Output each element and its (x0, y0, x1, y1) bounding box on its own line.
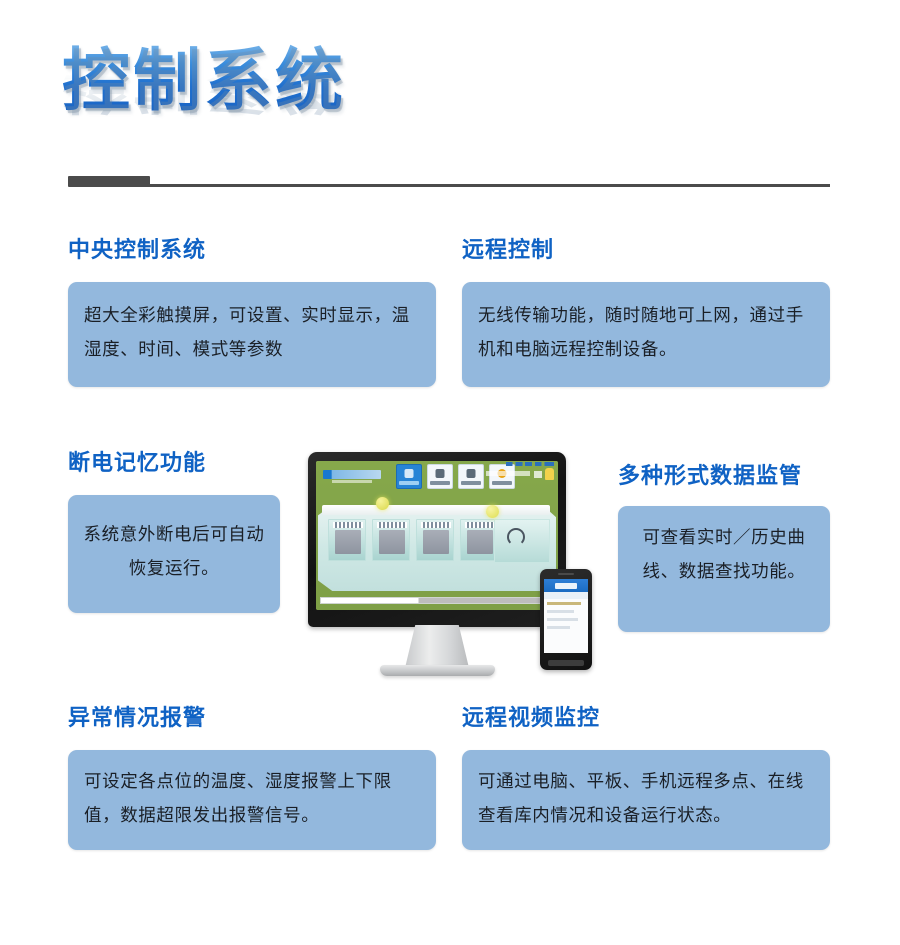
floorplan-wall (322, 505, 550, 515)
equipment-unit (423, 530, 449, 554)
floorplan-room[interactable] (372, 519, 410, 561)
phone-app-tabs[interactable] (544, 592, 588, 599)
list-item (547, 618, 578, 621)
vent-icon (377, 522, 407, 528)
feature-central-control-system: 中央控制系统 超大全彩触摸屏，可设置、实时显示，温湿度、时间、模式等参数 (68, 232, 436, 387)
phone-speaker (558, 573, 574, 575)
monitor-screen (316, 461, 558, 610)
feature-body-panel: 超大全彩触摸屏，可设置、实时显示，温湿度、时间、模式等参数 (68, 282, 436, 387)
feature-remote-video-monitoring: 远程视频监控 可通过电脑、平板、手机远程多点、在线查看库内情况和设备运行状态。 (462, 700, 830, 850)
divider (68, 176, 830, 188)
divider-line (148, 184, 830, 187)
feature-heading: 中央控制系统 (68, 232, 436, 264)
company-logo-icon (323, 470, 381, 479)
fan-icon (507, 528, 525, 546)
page-title-block: 控制系统 控制系统 (62, 44, 482, 164)
floorplan-room[interactable] (416, 519, 454, 561)
hmi-tile-label (430, 481, 450, 485)
feature-body-panel: 可通过电脑、平板、手机远程多点、在线查看库内情况和设备运行状态。 (462, 750, 830, 850)
floorplan-room[interactable] (460, 519, 498, 561)
phone-screen (544, 579, 588, 653)
chart-icon (436, 469, 445, 478)
equipment-unit (335, 530, 361, 554)
hmi-tile-3[interactable] (458, 464, 484, 489)
page-title: 控制系统 (62, 44, 482, 118)
feature-multi-form-data-supervision: 多种形式数据监管 可查看实时／历史曲线、数据查找功能。 (618, 458, 830, 632)
feature-body-panel: 系统意外断电后可自动恢复运行。 (68, 495, 280, 613)
list-item (547, 602, 581, 605)
indicator-lamp-icon (486, 505, 499, 518)
monitor-stand-base (380, 665, 495, 676)
hmi-nav-tiles (396, 464, 515, 489)
feature-heading: 远程视频监控 (462, 700, 830, 732)
smartphone-icon (540, 569, 592, 670)
hmi-tile-1[interactable] (396, 464, 422, 489)
hmi-tile-label (399, 481, 419, 485)
feature-body-panel: 无线传输功能，随时随地可上网，通过手机和电脑远程控制设备。 (462, 282, 830, 387)
hmi-progress-bar[interactable] (320, 597, 554, 604)
phone-home-button[interactable] (548, 660, 584, 666)
hmi-tile-label (461, 481, 481, 485)
equipment-unit (379, 530, 405, 554)
feature-heading: 异常情况报警 (68, 700, 436, 732)
floorplan-room[interactable] (328, 519, 366, 561)
company-logo-subtitle (332, 480, 372, 483)
vent-icon (333, 522, 363, 528)
window-controls (506, 462, 554, 466)
feature-heading: 远程控制 (462, 232, 830, 264)
monitor-stand-neck (405, 625, 469, 668)
hmi-topbar (316, 461, 558, 491)
phone-app-list (547, 602, 585, 634)
hmi-status-badge (534, 471, 542, 478)
hmi-status-text (486, 471, 530, 476)
feature-heading: 断电记忆功能 (68, 445, 280, 477)
hmi-tile-4[interactable] (489, 464, 515, 489)
bell-icon (545, 468, 554, 480)
list-item (547, 610, 574, 613)
vent-icon (421, 522, 451, 528)
equipment-unit (467, 530, 493, 554)
phone-app-header (544, 579, 588, 592)
indicator-lamp-icon (376, 497, 389, 510)
phone-app-title (555, 583, 577, 589)
feature-body-panel: 可设定各点位的温度、湿度报警上下限值，数据超限发出报警信号。 (68, 750, 436, 850)
vent-icon (465, 522, 495, 528)
feature-heading: 多种形式数据监管 (618, 458, 830, 490)
feature-body-panel: 可查看实时／历史曲线、数据查找功能。 (618, 506, 830, 632)
feature-remote-control: 远程控制 无线传输功能，随时随地可上网，通过手机和电脑远程控制设备。 (462, 232, 830, 387)
list-item (547, 626, 570, 629)
monitor-screen-icon (405, 469, 414, 478)
infographic-page: 控制系统 控制系统 中央控制系统 超大全彩触摸屏，可设置、实时显示，温湿度、时间… (0, 0, 900, 945)
hmi-tile-2[interactable] (427, 464, 453, 489)
feature-abnormal-alarm: 异常情况报警 可设定各点位的温度、湿度报警上下限值，数据超限发出报警信号。 (68, 700, 436, 850)
feature-power-loss-memory: 断电记忆功能 系统意外断电后可自动恢复运行。 (68, 445, 280, 613)
device-illustration (308, 452, 593, 677)
hmi-tile-label (492, 481, 512, 485)
floorplan-machine-room[interactable] (494, 519, 550, 563)
divider-accent (68, 176, 150, 187)
desktop-monitor-icon (308, 452, 566, 627)
hmi-dashboard (316, 461, 558, 610)
database-icon (467, 469, 476, 478)
